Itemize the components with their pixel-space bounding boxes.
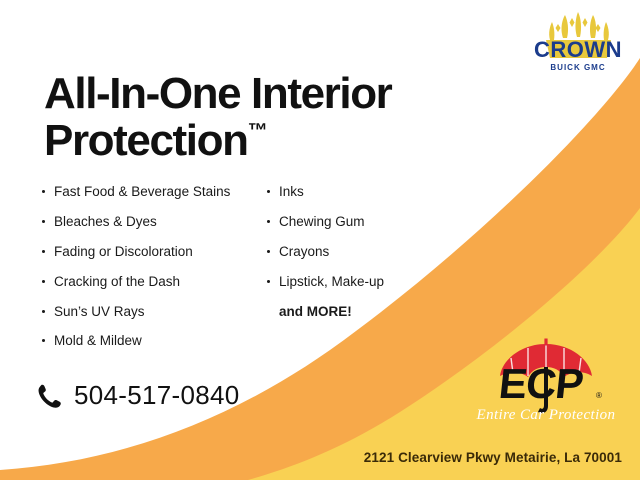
list-item: Fast Food & Beverage Stains: [40, 184, 255, 201]
crown-logo-svg: CROWN BUICK GMC: [528, 6, 628, 80]
phone-number: 504-517-0840: [74, 380, 240, 411]
phone-icon: [34, 382, 62, 410]
crown-buick-gmc-logo: CROWN BUICK GMC: [528, 6, 628, 80]
list-item: Bleaches & Dyes: [40, 214, 255, 231]
headline-line-1: All-In-One Interior: [44, 69, 391, 118]
list-item: Chewing Gum: [265, 214, 440, 231]
trademark-symbol: ™: [248, 120, 268, 142]
ecp-tagline: Entire Car Protection: [476, 407, 616, 423]
ecp-logo: ECP ® Entire Car Protection: [466, 336, 626, 426]
list-item: Crayons: [265, 244, 440, 261]
list-item: Lipstick, Make-up: [265, 274, 440, 291]
address-line: 2121 Clearview Pkwy Metairie, La 70001: [0, 450, 622, 465]
feature-list: Fast Food & Beverage Stains Bleaches & D…: [40, 184, 440, 363]
crown-sublabel: BUICK GMC: [550, 63, 605, 72]
phone-contact[interactable]: 504-517-0840: [34, 380, 240, 411]
crown-wordmark: CROWN: [534, 37, 622, 62]
feature-list-right-column: Inks Chewing Gum Crayons Lipstick, Make-…: [265, 184, 440, 363]
list-item: Sun’s UV Rays: [40, 304, 255, 321]
list-item: Fading or Discoloration: [40, 244, 255, 261]
feature-list-left-column: Fast Food & Beverage Stains Bleaches & D…: [40, 184, 255, 363]
flyer-canvas: CROWN BUICK GMC All-In-One Interior Prot…: [0, 0, 640, 480]
list-item: Mold & Mildew: [40, 333, 255, 350]
registered-mark-icon: ®: [596, 391, 602, 400]
headline-line-2: Protection: [44, 116, 248, 165]
list-item: Inks: [265, 184, 440, 201]
ecp-logo-svg: ECP ® Entire Car Protection: [466, 336, 626, 426]
page-title: All-In-One Interior Protection™: [44, 71, 514, 163]
more-label: and MORE!: [265, 304, 440, 321]
ecp-acronym: ECP: [497, 360, 585, 407]
list-item: Cracking of the Dash: [40, 274, 255, 291]
